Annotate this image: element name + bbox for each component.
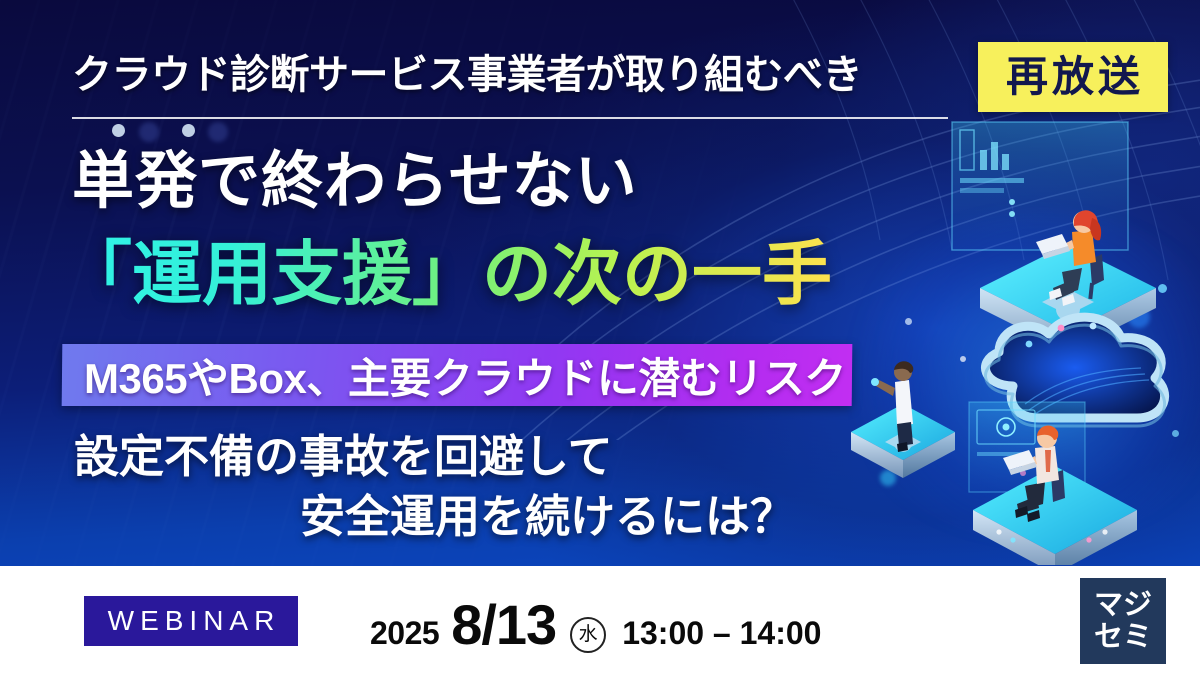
event-datetime: 2025 8/13 水 13:00 – 14:00	[370, 592, 821, 650]
rebroadcast-badge-label: 再放送	[1002, 56, 1144, 98]
risk-highlight-text: M365やBox、主要クラウドに潜むリスク	[62, 345, 846, 406]
particle-dot	[112, 124, 125, 137]
rebroadcast-badge: 再放送	[978, 42, 1168, 112]
subtitle-line-1: 設定不備の事故を回避して	[74, 420, 613, 485]
event-date: 8/13	[451, 592, 556, 657]
title-line-1: 単発で終わらせない	[72, 148, 638, 216]
header-divider	[72, 117, 948, 119]
eyebrow-row: クラウド診断サービス事業者が取り組むべき 再放送	[72, 44, 1168, 110]
eyebrow-text: クラウド診断サービス事業者が取り組むべき	[72, 44, 862, 106]
brand-logo-line-2: セミ	[1094, 623, 1152, 652]
hero-artwork: クラウド診断サービス事業者が取り組むべき 再放送 単発で終わらせない 「運用支援…	[0, 0, 1200, 566]
brand-logo-line-1: マジ	[1094, 591, 1152, 620]
webinar-badge: WEBINAR	[84, 596, 298, 646]
footer-bar: WEBINAR 2025 8/13 水 13:00 – 14:00	[0, 566, 1200, 675]
risk-highlight-bar: M365やBox、主要クラウドに潜むリスク	[62, 344, 853, 406]
illustration-person-standing	[845, 320, 965, 500]
particle-dot	[208, 122, 228, 142]
brand-logo-majiseminar: マジ セミ	[1080, 578, 1166, 664]
illustration-person-on-block	[965, 400, 1145, 565]
event-year: 2025	[370, 615, 439, 652]
webinar-badge-label: WEBINAR	[102, 607, 281, 635]
event-day-of-week: 水	[570, 617, 606, 653]
webinar-banner: クラウド診断サービス事業者が取り組むべき 再放送 単発で終わらせない 「運用支援…	[0, 0, 1200, 675]
particle-dot	[139, 122, 159, 142]
event-time: 13:00 – 14:00	[622, 615, 821, 652]
subtitle-line-2: 安全運用を続けるには？	[300, 480, 795, 545]
particle-dot	[182, 124, 195, 137]
title-line-2: 「運用支援」の次の一手	[62, 236, 832, 313]
